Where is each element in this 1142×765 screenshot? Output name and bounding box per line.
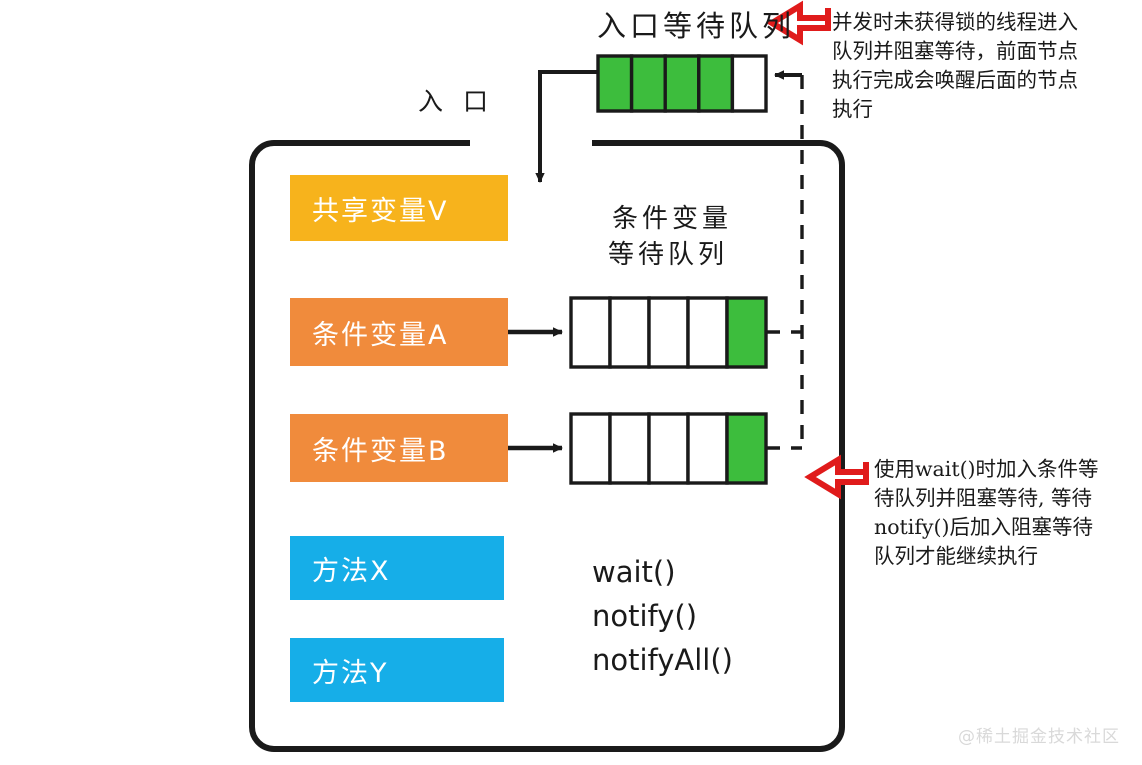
- condition-variable-b-label: 条件变量B: [312, 429, 449, 468]
- shared-variable-v-label: 共享变量V: [312, 189, 448, 228]
- method-x-block[interactable]: 方法X: [290, 536, 504, 600]
- shared-variable-v-block[interactable]: 共享变量V: [290, 175, 508, 241]
- condition-queue-callout-arrow-icon: [810, 460, 866, 494]
- watermark: @稀土掘金技术社区: [958, 722, 1120, 747]
- entrance-label: 入 口: [418, 82, 494, 118]
- condition-queue-caption-line2: 等待队列: [608, 234, 728, 271]
- method-y-block[interactable]: 方法Y: [290, 638, 504, 702]
- condition-variable-a-block[interactable]: 条件变量A: [290, 298, 508, 366]
- entry-dispatch-arrow: [540, 72, 598, 182]
- method-y-label: 方法Y: [312, 651, 389, 690]
- condition-variable-b-block[interactable]: 条件变量B: [290, 414, 508, 482]
- monitor-methods-list: wait() notify() notifyAll(): [592, 550, 733, 682]
- method-x-label: 方法X: [312, 549, 391, 588]
- diagram-canvas: 入口等待队列 入 口 共享变量V 条件变量A 条件变量B 方法X 方法Y 条件变…: [0, 0, 1142, 765]
- condition-wait-queue-b: [571, 414, 766, 483]
- condition-wait-queue-a: [571, 298, 766, 367]
- entry-queue-note: 并发时未获得锁的线程进入 队列并阻塞等待，前面节点 执行完成会唤醒后面的节点 执…: [832, 8, 1137, 124]
- condition-queue-note: 使用wait()时加入条件等 待队列并阻塞等待, 等待 notify()后加入阻…: [874, 455, 1142, 571]
- entry-queue-title: 入口等待队列: [597, 3, 795, 45]
- condition-variable-a-label: 条件变量A: [312, 313, 448, 352]
- entry-wait-queue: [598, 56, 766, 111]
- condition-queue-caption-line1: 条件变量: [612, 198, 732, 235]
